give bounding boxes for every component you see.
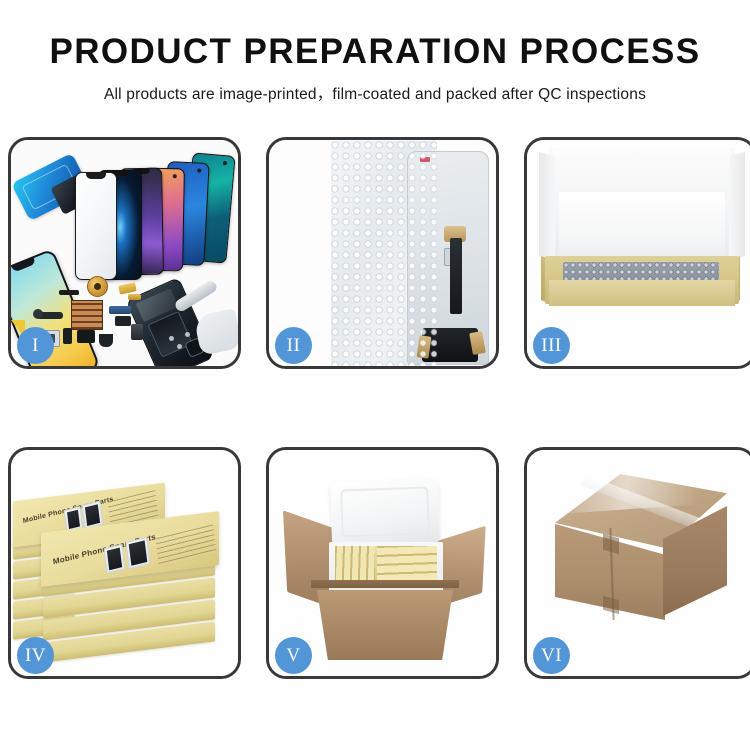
step-panel-1[interactable]: I <box>8 137 241 369</box>
screen-flex-cable-icon <box>450 238 462 314</box>
step-panel-2[interactable]: II <box>266 137 499 369</box>
step-panel-5[interactable]: V <box>266 447 499 679</box>
side-button-icon <box>63 328 72 344</box>
white-foam-sheet-icon <box>559 192 725 264</box>
taptic-engine-icon <box>131 324 143 340</box>
screen-bottom-assembly-icon <box>422 328 478 362</box>
step-badge-5: V <box>275 637 312 674</box>
page-title: PRODUCT PREPARATION PROCESS <box>0 34 750 71</box>
page-subtitle: All products are image-printed，film-coat… <box>0 82 750 104</box>
box-spec-lines-front <box>155 524 216 567</box>
header: PRODUCT PREPARATION PROCESS All products… <box>0 0 750 104</box>
flex-cable-2-icon <box>109 306 131 314</box>
copper-shield-grid-icon <box>71 300 103 330</box>
packed-screen-icon <box>407 151 489 365</box>
flex-cable-1-icon <box>37 312 63 319</box>
gold-contact-icon <box>128 294 141 300</box>
punch-hole-icon <box>173 174 177 178</box>
bubble-wrap-bag-icon <box>331 141 437 366</box>
step-badge-1: I <box>17 327 54 364</box>
glass-screen-protector-icon <box>75 172 117 280</box>
step-badge-6: VI <box>533 637 570 674</box>
step-badge-4: IV <box>17 637 54 674</box>
step-badge-3: III <box>533 327 570 364</box>
step-panel-4[interactable]: Mobile Phone Spare Parts Mobile Phone Sp… <box>8 447 241 679</box>
step-panel-6[interactable]: VI <box>524 447 750 679</box>
punch-hole-icon <box>223 161 227 165</box>
step-panel-3[interactable]: III <box>524 137 750 369</box>
vibrator-cup-icon <box>99 334 113 347</box>
foam-box-lid-icon <box>330 478 440 548</box>
screw-3-icon <box>185 332 190 337</box>
small-module-icon <box>77 330 95 343</box>
copper-speaker-coil-icon <box>87 276 108 297</box>
gold-flex-connector-icon <box>118 282 136 294</box>
step-badge-2: II <box>275 327 312 364</box>
red-label-icon <box>420 157 430 162</box>
box-window-front-1 <box>103 544 125 574</box>
carton-front-icon <box>317 590 453 660</box>
punch-hole-icon <box>197 169 201 173</box>
steps-grid: I II <box>8 137 742 679</box>
product-preparation-infographic: PRODUCT PREPARATION PROCESS All products… <box>0 0 750 750</box>
phone-display-fan <box>69 152 238 272</box>
kraft-box-front-icon <box>549 280 735 306</box>
box-window-front-2 <box>125 537 150 570</box>
screw-2-icon <box>177 344 182 349</box>
screw-1-icon <box>169 336 174 341</box>
flex-cable-3-icon <box>115 316 131 326</box>
earpiece-speaker-bar-icon <box>59 290 79 295</box>
